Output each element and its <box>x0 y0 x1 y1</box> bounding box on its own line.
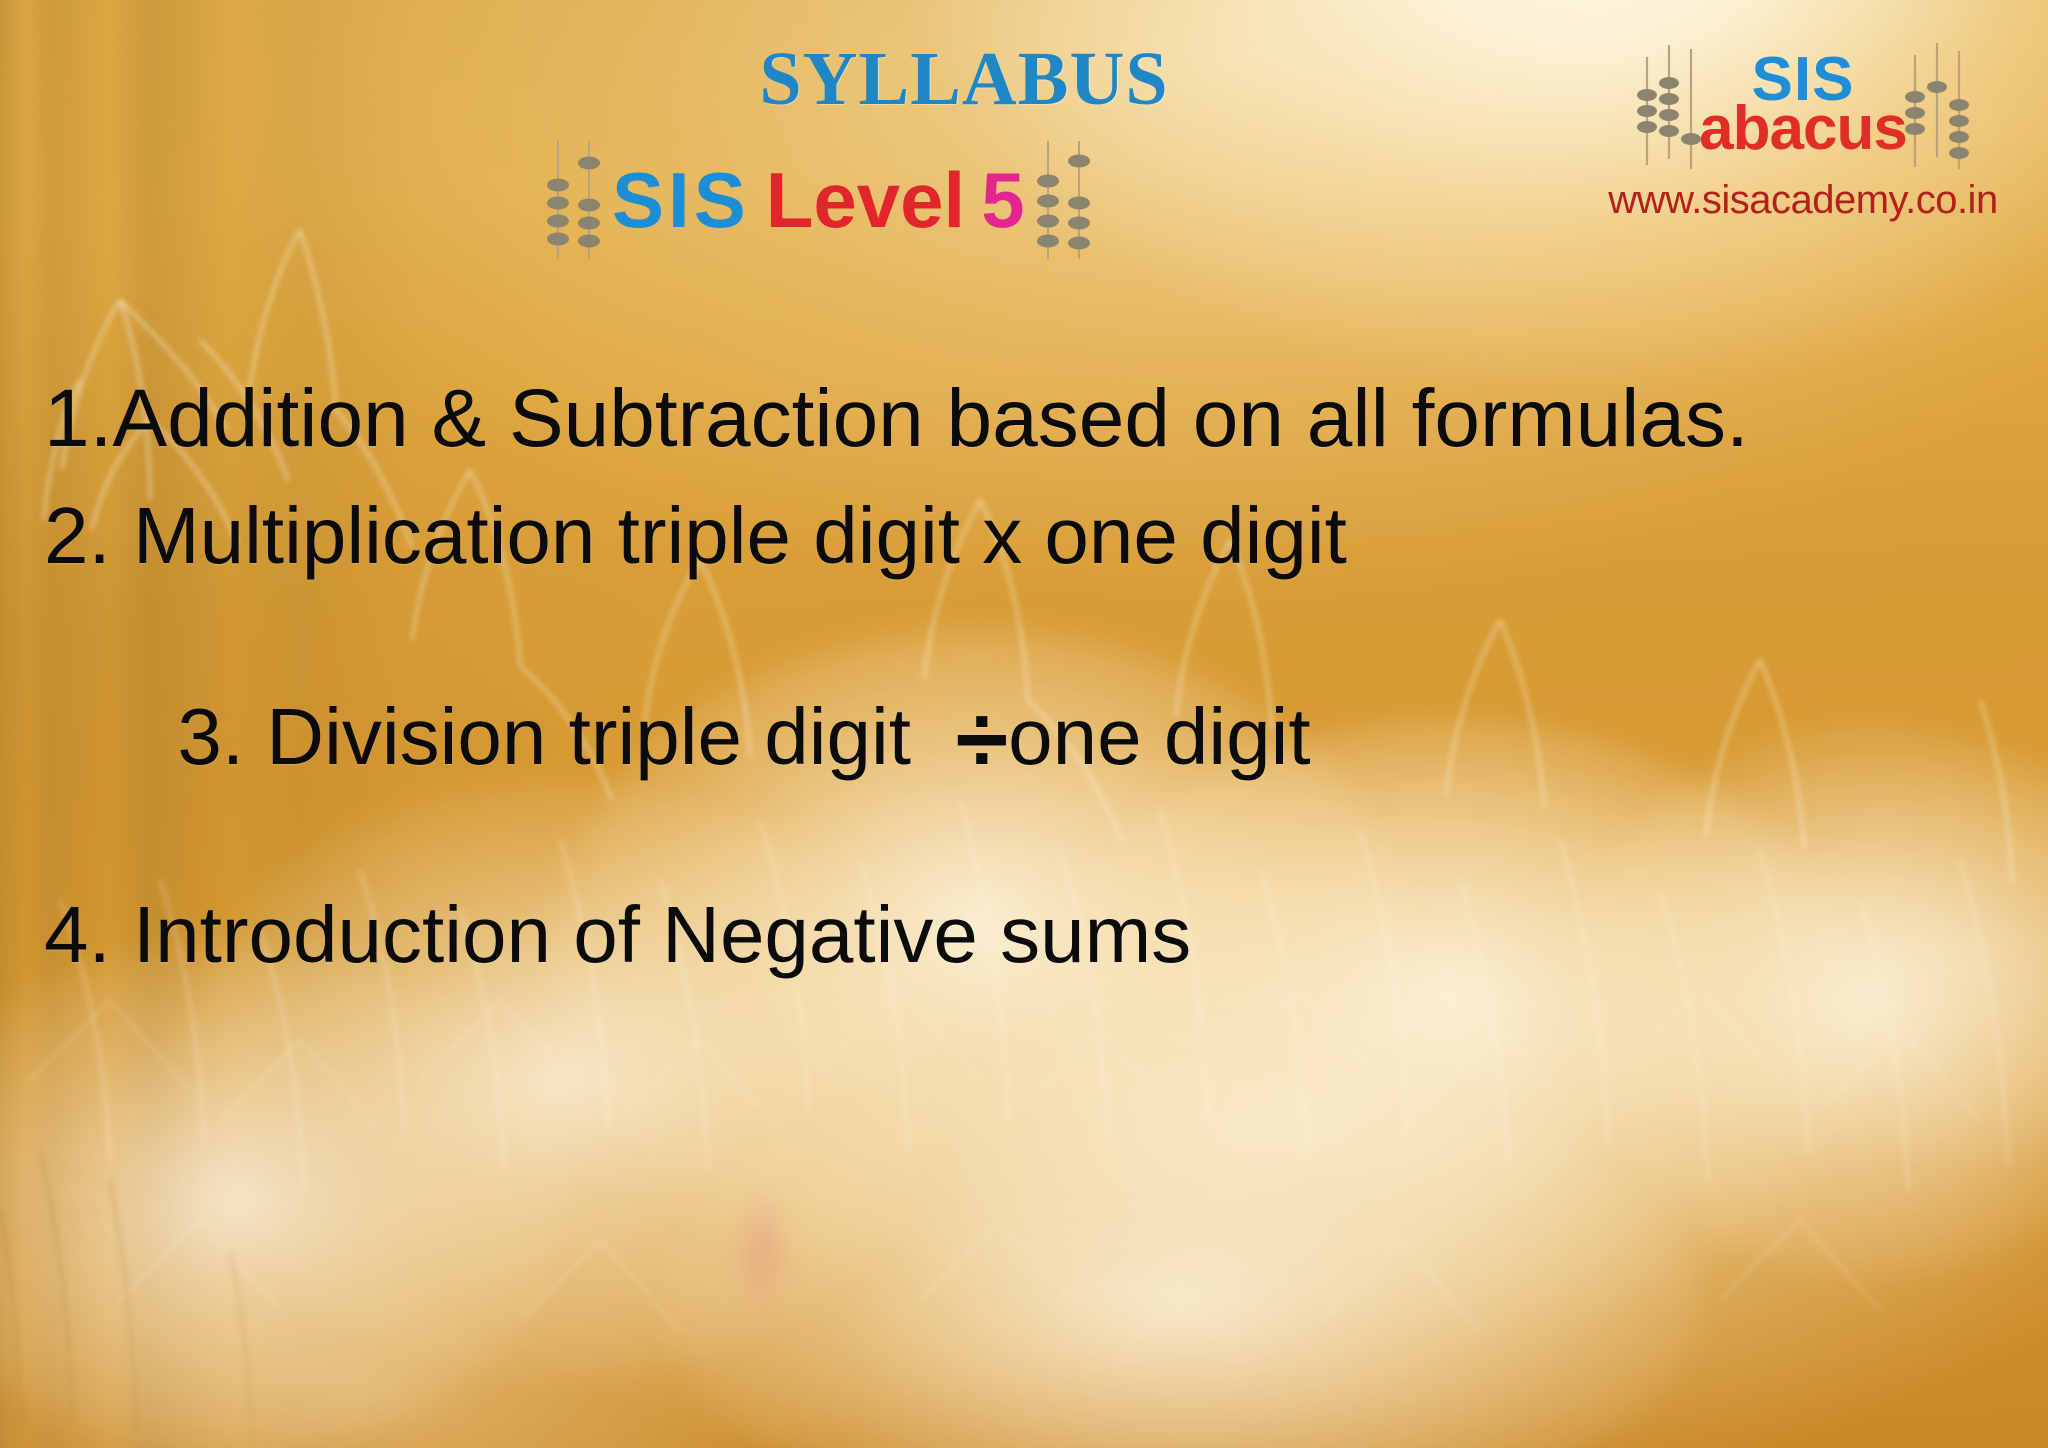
abacus-beads-right-icon <box>1035 141 1092 259</box>
level-label: SIS Level 5 <box>612 161 1025 239</box>
list-item: 4. Introduction of Negative sums <box>44 895 2004 975</box>
list-item: 3. Division triple digit ÷one digit <box>44 614 2004 857</box>
abacus-rods-right-icon <box>1903 39 1973 169</box>
level-heading: SIS Level 5 <box>545 150 1092 250</box>
level-number: 5 <box>981 161 1024 239</box>
list-item: 2. Multiplication triple digit x one dig… <box>44 496 2004 576</box>
background-pink-blur-blob <box>735 1190 789 1318</box>
website-url[interactable]: www.sisacademy.co.in <box>1568 178 2038 223</box>
sis-abacus-logo[interactable]: SIS abacus www.sisacademy.co.in <box>1568 34 2038 223</box>
syllabus-list: 1.Addition & Subtraction based on all fo… <box>44 378 2004 1013</box>
list-item-prefix: 3. Division triple digit <box>177 692 955 781</box>
level-word: Level <box>766 161 965 239</box>
list-item: 1.Addition & Subtraction based on all fo… <box>44 378 2004 460</box>
abacus-rods-left-icon <box>1633 39 1703 169</box>
logo-brand-bottom: abacus <box>1699 102 1907 155</box>
abacus-beads-left-icon <box>545 141 602 259</box>
page-title-text: SYLLABUS <box>759 37 1168 121</box>
list-item-suffix: one digit <box>1008 692 1310 781</box>
syllabus-slide: SYLLABUS SIS Level 5 <box>0 0 2048 1448</box>
logo-wordmark: SIS abacus <box>1699 53 1907 156</box>
level-brand: SIS <box>612 161 750 239</box>
logo-mark: SIS abacus <box>1568 34 2038 174</box>
division-symbol-icon: ÷ <box>955 686 1008 793</box>
